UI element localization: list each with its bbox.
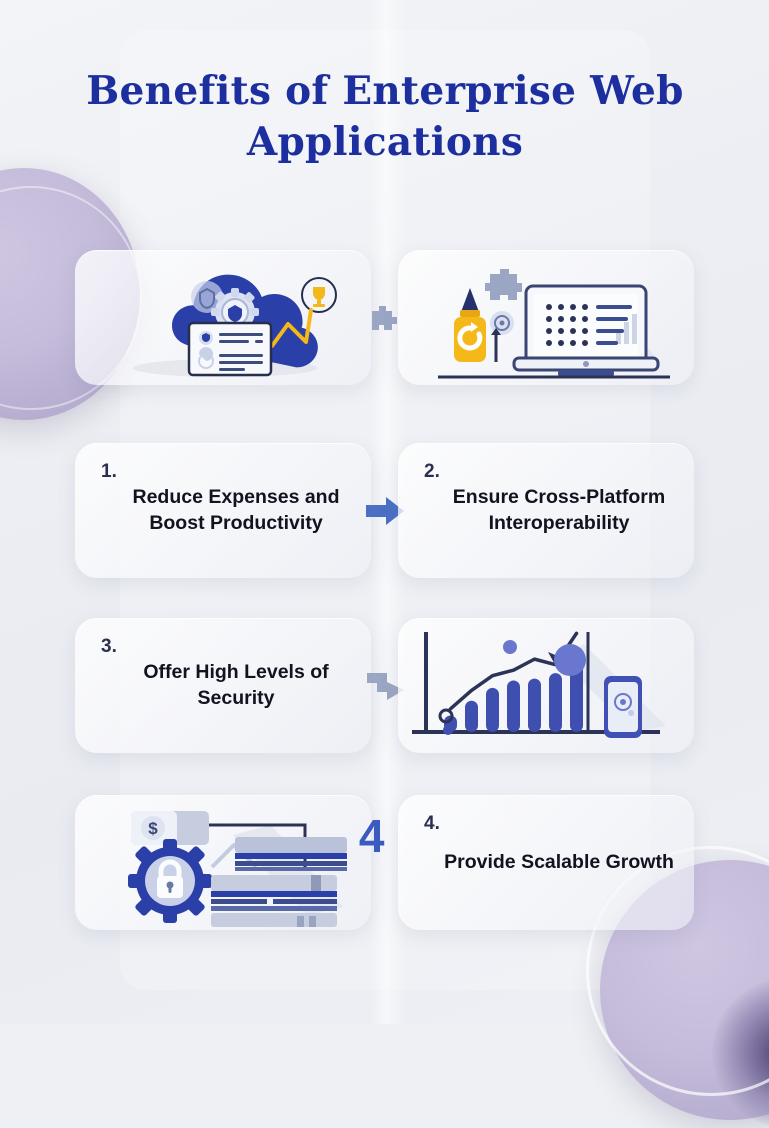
benefit-number-3: 3. (101, 636, 117, 658)
benefit-headline-1: Reduce Expenses and Boost Productivity (121, 485, 351, 537)
benefit-card-2[interactable]: 2. Ensure Cross-Platform Interoperabilit… (398, 443, 694, 578)
gear-lock-icon (128, 839, 212, 923)
cloud-analytics-illustration (75, 250, 371, 385)
smartphone-icon (604, 676, 642, 738)
chart-point-small (443, 725, 453, 735)
chart-point-mid (503, 640, 517, 654)
chart-bar (486, 688, 499, 732)
benefit-card-3[interactable]: 3. Offer High Levels of Security (75, 618, 371, 753)
document-card (189, 323, 271, 375)
page-title: Benefits of Enterprise Web Applications (60, 66, 710, 169)
benefit-headline-4: Provide Scalable Growth (444, 850, 674, 876)
chart-bar (549, 673, 562, 732)
chart-point-large (554, 644, 586, 676)
laptop-integration-card (398, 250, 694, 385)
puzzle-piece-icon (485, 269, 522, 300)
benefit-number-2: 2. (424, 461, 440, 483)
benefit-headline-2: Ensure Cross-Platform Interoperability (444, 485, 674, 537)
row-1-connector (371, 250, 398, 385)
step-number-4: 4 (359, 809, 385, 863)
growth-chart-card (398, 618, 694, 753)
growth-chart-illustration (398, 618, 694, 753)
row-3-connector (371, 618, 398, 753)
chart-bar (465, 701, 478, 732)
benefit-card-4[interactable]: 4. Provide Scalable Growth (398, 795, 694, 930)
row-4-connector: 4 (371, 795, 398, 930)
benefit-row-2: 1. Reduce Expenses and Boost Productivit… (75, 443, 694, 578)
chart-bar (528, 679, 541, 732)
secure-data-card: $ (75, 795, 371, 930)
svg-text:$: $ (148, 819, 158, 838)
stacked-documents (211, 837, 347, 927)
benefit-number-1: 1. (101, 461, 117, 483)
benefit-number-4: 4. (424, 813, 440, 835)
trophy-badge-icon (302, 278, 336, 312)
benefit-row-3: 3. Offer High Levels of Security (75, 618, 694, 753)
puzzle-connector-icon (368, 301, 402, 335)
laptop-integration-illustration (398, 250, 694, 385)
benefit-card-1[interactable]: 1. Reduce Expenses and Boost Productivit… (75, 443, 371, 578)
benefit-row-4: $ (75, 795, 694, 930)
benefit-headline-3: Offer High Levels of Security (121, 660, 351, 712)
secure-data-illustration: $ (75, 795, 371, 930)
rocket-bottle-icon (454, 288, 486, 362)
laptop-icon (514, 286, 658, 377)
row-2-connector (371, 443, 398, 578)
chart-bar (507, 680, 520, 732)
benefit-row-1 (75, 250, 694, 385)
cloud-analytics-card (75, 250, 371, 385)
